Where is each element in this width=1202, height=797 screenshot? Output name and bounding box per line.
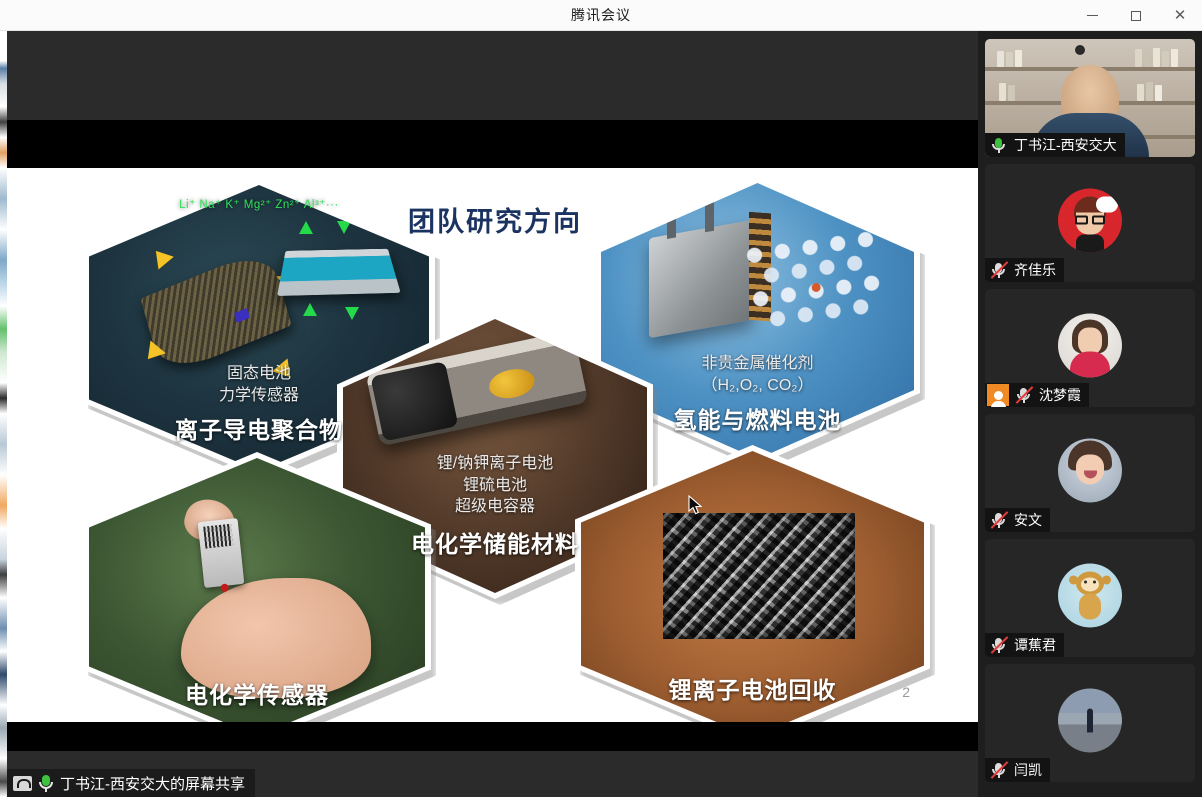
participant-name: 齐佳乐	[1014, 260, 1056, 280]
host-badge-icon	[987, 384, 1009, 406]
minimize-button[interactable]	[1070, 0, 1114, 31]
avatar	[1058, 563, 1122, 627]
microphone-muted-icon	[989, 635, 1009, 655]
shared-screen-stage[interactable]: 团队研究方向 Li⁺ Na⁺ K⁺ Mg²⁺ Zn²⁺ Al³	[7, 31, 978, 797]
fuel-cell-stack-illustration	[649, 220, 753, 338]
mouse-cursor-icon	[688, 495, 703, 517]
flexible-film-illustration	[140, 247, 291, 378]
screen-share-label: 丁书江-西安交大的屏幕共享	[60, 773, 245, 794]
participant-nameplate: 沈梦霞	[985, 383, 1089, 407]
yellow-arrow-icon	[148, 244, 174, 269]
participant-nameplate: 安文	[985, 508, 1050, 532]
hexagon-sub-label: 固态电池 力学传感器	[83, 363, 435, 406]
screen-share-banner: 丁书江-西安交大的屏幕共享	[7, 769, 255, 797]
participant-tile[interactable]: 齐佳乐	[985, 164, 1195, 282]
avatar	[1058, 313, 1122, 377]
hexagon-main-label: 离子导电聚合物	[83, 411, 435, 445]
participant-name: 安文	[1014, 510, 1042, 530]
battery-scrap-illustration	[663, 513, 855, 639]
hexagon-main-label: 锂离子电池回收	[575, 671, 930, 705]
tencent-meeting-window: 腾讯会议 ✕ 团队研究方向	[0, 0, 1202, 797]
participant-tile[interactable]: 安文	[985, 414, 1195, 532]
presentation-slide: 团队研究方向 Li⁺ Na⁺ K⁺ Mg²⁺ Zn²⁺ Al³	[7, 168, 978, 722]
graphene-lattice-illustration	[739, 226, 893, 354]
participant-tile[interactable]: 沈梦霞	[985, 289, 1195, 407]
window-title: 腾讯会议	[571, 5, 631, 25]
participant-tile[interactable]: 闫凯	[985, 664, 1195, 782]
participant-name: 丁书江-西安交大	[1014, 135, 1117, 155]
participant-nameplate: 谭蕉君	[985, 633, 1064, 657]
microphone-muted-icon	[1014, 385, 1034, 405]
microphone-on-icon	[989, 135, 1009, 155]
hexagon-sub-label: 非贵金属催化剂 （H₂,O₂, CO₂）	[595, 353, 920, 396]
participant-tile[interactable]: 谭蕉君	[985, 539, 1195, 657]
stage-black-band-top	[7, 120, 978, 150]
green-arrow-up-icon	[299, 221, 313, 234]
hexagon-sub-label: 锂/钠钾离子电池 锂硫电池 超级电容器	[337, 453, 653, 518]
close-button[interactable]: ✕	[1158, 0, 1202, 31]
solid-state-battery-block	[277, 249, 401, 296]
title-bar: 腾讯会议 ✕	[0, 0, 1202, 31]
avatar	[1058, 188, 1122, 252]
background-window-sliver	[0, 30, 7, 797]
hexagon-main-label: 氢能与燃料电池	[595, 401, 920, 435]
microphone-muted-icon	[989, 760, 1009, 780]
stage-top-letterbox	[7, 31, 978, 120]
screen-share-icon	[13, 776, 32, 791]
maximize-button[interactable]	[1114, 0, 1158, 31]
microphone-muted-icon	[989, 260, 1009, 280]
participant-tile[interactable]: 丁书江-西安交大	[985, 39, 1195, 157]
green-arrow-up-icon	[303, 303, 317, 316]
hexagon-main-label: 电化学储能材料	[337, 525, 653, 559]
participant-name: 闫凯	[1014, 760, 1042, 780]
avatar	[1058, 688, 1122, 752]
stage-black-band-bottom	[7, 722, 978, 751]
window-controls: ✕	[1070, 0, 1202, 31]
green-arrow-down-icon	[337, 221, 351, 234]
avatar	[1058, 438, 1122, 502]
ion-species-label: Li⁺ Na⁺ K⁺ Mg²⁺ Zn²⁺ Al³⁺···	[83, 197, 435, 211]
microphone-on-icon	[38, 774, 54, 792]
participant-name: 谭蕉君	[1014, 635, 1056, 655]
participant-nameplate: 丁书江-西安交大	[985, 133, 1125, 157]
hexagon-main-label: 电化学传感器	[83, 676, 431, 710]
participant-nameplate: 齐佳乐	[985, 258, 1064, 282]
participant-rail[interactable]: 丁书江-西安交大 齐佳乐	[978, 31, 1202, 797]
microphone-muted-icon	[989, 510, 1009, 530]
participant-nameplate: 闫凯	[985, 758, 1050, 782]
sensor-chip-illustration	[198, 518, 245, 588]
participant-name: 沈梦霞	[1039, 385, 1081, 405]
